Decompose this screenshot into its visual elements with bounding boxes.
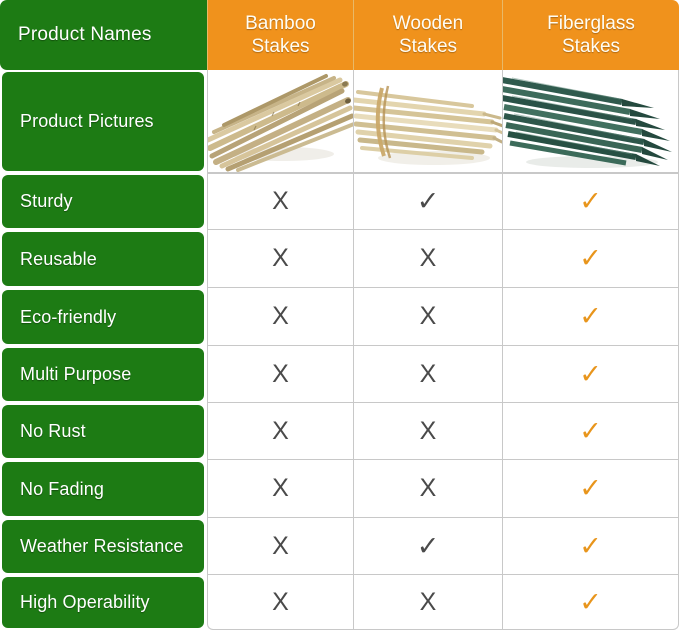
header-column-fiberglass-line2: Stakes (562, 36, 620, 57)
cell-reusable-wooden: X (353, 230, 502, 288)
check-icon: ✓ (579, 361, 602, 388)
bamboo-stakes-photo (208, 70, 354, 173)
cell-picture-bamboo (207, 70, 353, 173)
header-column-bamboo: Bamboo Stakes (207, 0, 353, 70)
row-label-sturdy: Sturdy (2, 175, 204, 228)
row-label-multi-purpose-text: Multi Purpose (20, 364, 131, 385)
x-icon: X (420, 246, 437, 271)
cell-multi-purpose-wooden: X (353, 346, 502, 403)
cell-eco-friendly-bamboo: X (207, 288, 353, 346)
row-label-high-operability: High Operability (2, 577, 204, 628)
cell-no-fading-fiberglass: ✓ (502, 460, 679, 518)
row-label-no-rust: No Rust (2, 405, 204, 458)
check-icon: ✓ (579, 188, 602, 215)
x-icon: X (420, 476, 437, 501)
check-icon: ✓ (579, 533, 602, 560)
cell-picture-fiberglass (502, 70, 679, 173)
check-icon: ✓ (579, 245, 602, 272)
x-icon: X (272, 476, 289, 501)
header-column-bamboo-line1: Bamboo (245, 13, 316, 34)
cell-sturdy-bamboo: X (207, 173, 353, 230)
comparison-grid: Product Names Bamboo Stakes Wooden Stake… (0, 0, 679, 633)
x-icon: X (272, 246, 289, 271)
cell-no-rust-fiberglass: ✓ (502, 403, 679, 460)
row-label-eco-friendly-text: Eco-friendly (20, 307, 116, 328)
cell-eco-friendly-wooden: X (353, 288, 502, 346)
row-label-no-fading: No Fading (2, 462, 204, 516)
cell-high-operability-fiberglass: ✓ (502, 575, 679, 630)
cell-weather-resistance-wooden: ✓ (353, 518, 502, 575)
x-icon: X (272, 189, 289, 214)
cell-picture-wooden (353, 70, 502, 173)
row-label-high-operability-text: High Operability (20, 592, 150, 613)
fiberglass-stakes-photo (502, 70, 679, 173)
header-row-label-text: Product Names (18, 24, 152, 46)
cell-no-fading-bamboo: X (207, 460, 353, 518)
cell-reusable-bamboo: X (207, 230, 353, 288)
row-label-no-fading-text: No Fading (20, 479, 104, 500)
cell-sturdy-fiberglass: ✓ (502, 173, 679, 230)
x-icon: X (272, 590, 289, 615)
cell-no-rust-bamboo: X (207, 403, 353, 460)
check-icon: ✓ (579, 303, 602, 330)
check-icon: ✓ (417, 188, 440, 215)
row-label-weather-resistance-text: Weather Resistance (20, 536, 184, 557)
x-icon: X (420, 419, 437, 444)
cell-eco-friendly-fiberglass: ✓ (502, 288, 679, 346)
check-icon: ✓ (579, 589, 602, 616)
cell-reusable-fiberglass: ✓ (502, 230, 679, 288)
cell-high-operability-wooden: X (353, 575, 502, 630)
x-icon: X (272, 534, 289, 559)
row-label-product-pictures: Product Pictures (2, 72, 204, 171)
cell-multi-purpose-fiberglass: ✓ (502, 346, 679, 403)
header-column-bamboo-line2: Stakes (251, 36, 309, 57)
header-column-fiberglass-line1: Fiberglass (547, 13, 635, 34)
row-label-reusable-text: Reusable (20, 249, 97, 270)
row-label-eco-friendly: Eco-friendly (2, 290, 204, 344)
x-icon: X (420, 362, 437, 387)
cell-weather-resistance-fiberglass: ✓ (502, 518, 679, 575)
cell-multi-purpose-bamboo: X (207, 346, 353, 403)
header-column-fiberglass: Fiberglass Stakes (502, 0, 679, 70)
check-icon: ✓ (417, 533, 440, 560)
x-icon: X (272, 419, 289, 444)
header-column-wooden: Wooden Stakes (353, 0, 502, 70)
header-column-wooden-line1: Wooden (393, 13, 463, 34)
cell-high-operability-bamboo: X (207, 575, 353, 630)
cell-no-rust-wooden: X (353, 403, 502, 460)
check-icon: ✓ (579, 475, 602, 502)
row-label-sturdy-text: Sturdy (20, 191, 73, 212)
wooden-stakes-photo (354, 70, 503, 173)
row-label-weather-resistance: Weather Resistance (2, 520, 204, 573)
product-comparison-table: Product Names Bamboo Stakes Wooden Stake… (0, 0, 679, 633)
header-column-wooden-line2: Stakes (399, 36, 457, 57)
cell-no-fading-wooden: X (353, 460, 502, 518)
cell-sturdy-wooden: ✓ (353, 173, 502, 230)
header-row-label: Product Names (0, 0, 207, 70)
x-icon: X (420, 590, 437, 615)
cell-weather-resistance-bamboo: X (207, 518, 353, 575)
x-icon: X (420, 304, 437, 329)
row-label-reusable: Reusable (2, 232, 204, 286)
row-label-no-rust-text: No Rust (20, 421, 86, 442)
check-icon: ✓ (579, 418, 602, 445)
row-label-product-pictures-text: Product Pictures (20, 111, 154, 132)
x-icon: X (272, 362, 289, 387)
row-label-multi-purpose: Multi Purpose (2, 348, 204, 401)
x-icon: X (272, 304, 289, 329)
